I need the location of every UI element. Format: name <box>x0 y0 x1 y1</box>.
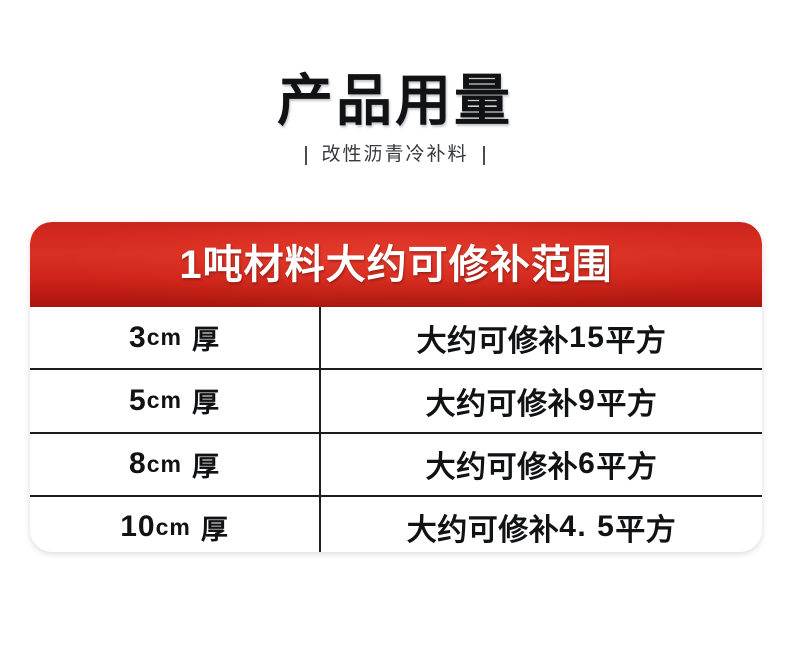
thickness-word: 厚 <box>192 318 220 357</box>
area-value: 9 <box>578 384 596 418</box>
table-cell-area: 大约可修补9平方 <box>321 370 762 431</box>
vertical-rule-left-icon <box>305 146 307 165</box>
thickness-word: 厚 <box>201 508 229 547</box>
thickness-value: 10 <box>120 510 155 544</box>
vertical-rule-right-icon <box>483 146 485 165</box>
area-value: 15 <box>569 321 605 355</box>
table-row: 5cm厚 大约可修补9平方 <box>30 368 762 431</box>
product-usage-infographic: 产品用量 改性沥青冷补料 1吨材料大约可修补范围 3cm厚 大约可修补15平方 … <box>0 0 790 651</box>
table-cell-area: 大约可修补4. 5平方 <box>321 497 762 552</box>
area-unit: 平方 <box>596 442 657 486</box>
usage-table-banner-label: 1吨材料大约可修补范围 <box>179 242 612 288</box>
table-cell-thickness: 10cm厚 <box>30 497 321 552</box>
thickness-unit: cm <box>147 387 182 414</box>
page-title: 产品用量 <box>0 70 790 132</box>
table-row: 8cm厚 大约可修补6平方 <box>30 432 762 495</box>
usage-table-body: 3cm厚 大约可修补15平方 5cm厚 大约可修补9平方 8cm厚 <box>30 307 762 552</box>
area-unit: 平方 <box>615 505 676 549</box>
area-value: 6 <box>578 447 596 481</box>
heading-block: 产品用量 改性沥青冷补料 <box>0 70 790 166</box>
area-prefix: 大约可修补 <box>407 505 560 549</box>
thickness-value: 3 <box>129 321 147 355</box>
thickness-unit: cm <box>147 324 182 351</box>
area-value: 4. 5 <box>559 510 615 544</box>
table-cell-area: 大约可修补15平方 <box>321 307 762 368</box>
table-row: 3cm厚 大约可修补15平方 <box>30 307 762 368</box>
table-row: 10cm厚 大约可修补4. 5平方 <box>30 495 762 552</box>
subtitle-row: 改性沥青冷补料 <box>0 144 790 166</box>
table-cell-thickness: 3cm厚 <box>30 307 321 368</box>
thickness-value: 5 <box>129 384 147 418</box>
table-cell-thickness: 8cm厚 <box>30 434 321 495</box>
thickness-value: 8 <box>129 447 147 481</box>
table-cell-thickness: 5cm厚 <box>30 370 321 431</box>
thickness-word: 厚 <box>192 381 220 420</box>
thickness-unit: cm <box>156 514 191 541</box>
thickness-unit: cm <box>147 451 182 478</box>
table-cell-area: 大约可修补6平方 <box>321 434 762 495</box>
area-prefix: 大约可修补 <box>417 316 570 360</box>
area-prefix: 大约可修补 <box>426 379 579 423</box>
page-subtitle: 改性沥青冷补料 <box>321 144 468 166</box>
usage-table-banner: 1吨材料大约可修补范围 <box>30 222 762 307</box>
area-prefix: 大约可修补 <box>426 442 579 486</box>
thickness-word: 厚 <box>192 445 220 484</box>
area-unit: 平方 <box>605 316 666 360</box>
area-unit: 平方 <box>596 379 657 423</box>
usage-table-card: 1吨材料大约可修补范围 3cm厚 大约可修补15平方 5cm厚 大约可修补9平方 <box>30 222 762 552</box>
